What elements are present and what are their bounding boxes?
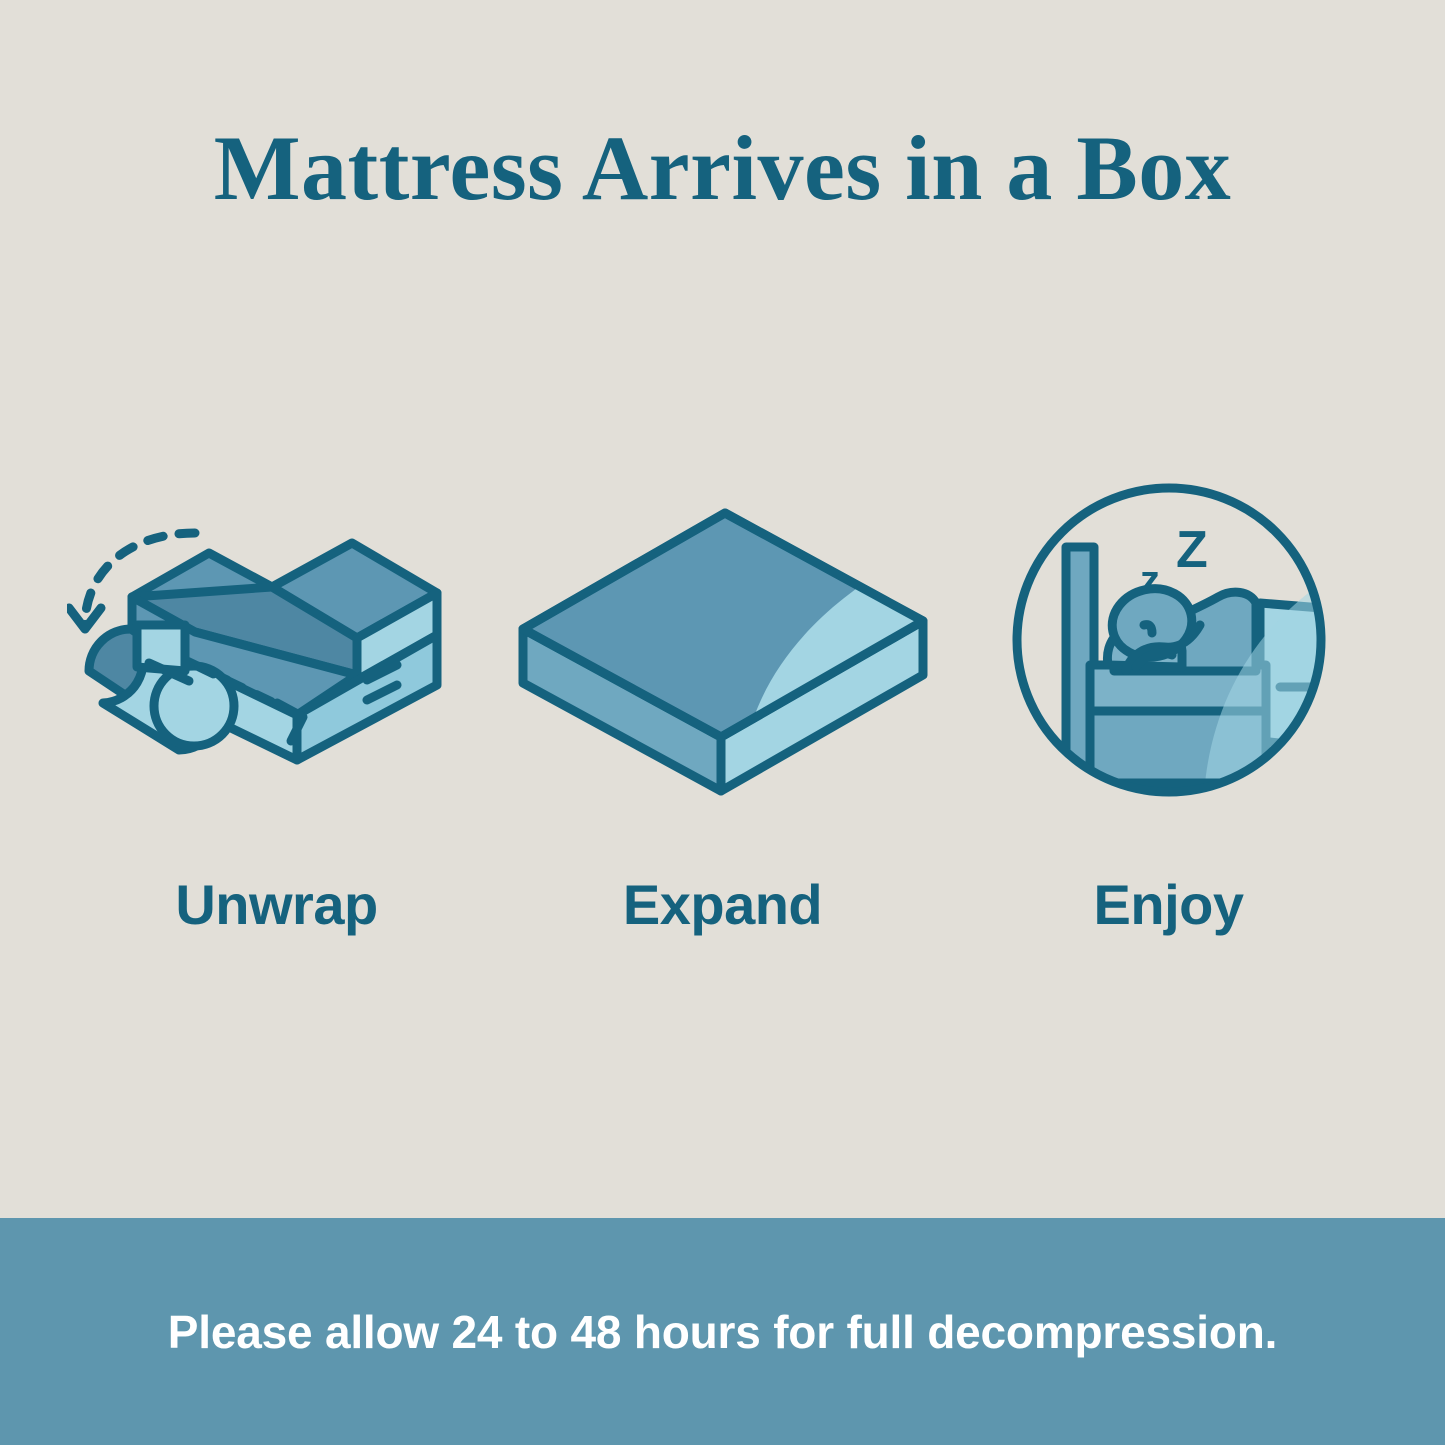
enjoy-art: z Z <box>949 470 1389 810</box>
step-label-unwrap: Unwrap <box>175 872 377 937</box>
step-label-expand: Expand <box>623 872 822 937</box>
box-with-rolled-mattress-icon <box>67 475 487 805</box>
sleep-mark-small: z <box>1140 558 1160 602</box>
expand-art <box>503 470 943 810</box>
step-enjoy: z Z Enjoy <box>949 470 1389 937</box>
unwrap-art <box>57 470 497 810</box>
steps-row: Unwrap <box>0 470 1445 970</box>
step-unwrap: Unwrap <box>57 470 497 937</box>
person-sleeping-in-bed-icon: z Z <box>1004 475 1334 805</box>
decompression-note: Please allow 24 to 48 hours for full dec… <box>168 1305 1277 1359</box>
infographic-page: Mattress Arrives in a Box <box>0 0 1445 1445</box>
step-expand: Expand <box>503 470 943 937</box>
step-label-enjoy: Enjoy <box>1094 872 1244 937</box>
sleep-mark-large: Z <box>1176 521 1208 579</box>
flat-mattress-slab-icon <box>513 475 933 805</box>
footer-banner: Please allow 24 to 48 hours for full dec… <box>0 1218 1445 1445</box>
page-title: Mattress Arrives in a Box <box>0 118 1445 219</box>
